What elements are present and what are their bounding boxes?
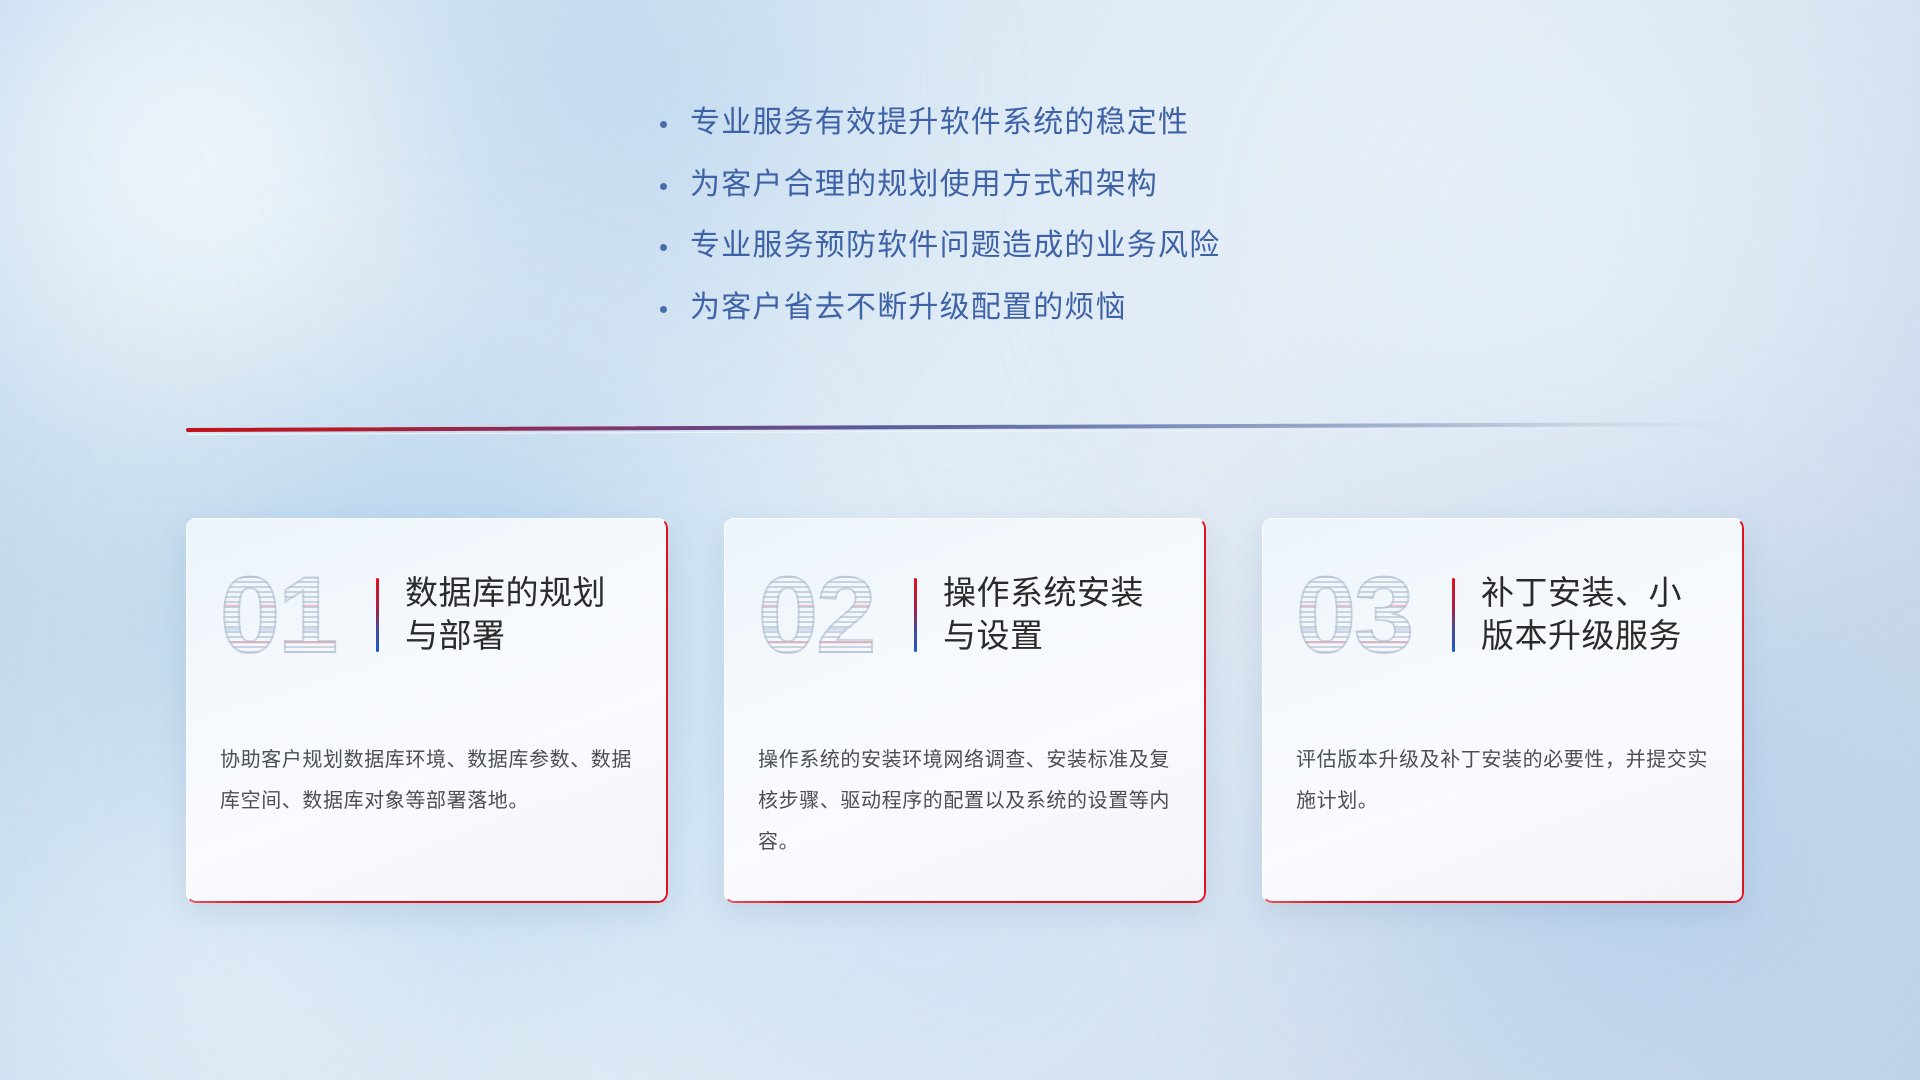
card-header: 0101 数据库的规划与部署 <box>220 556 634 674</box>
list-item: 专业服务预防软件问题造成的业务风险 <box>660 227 1440 265</box>
benefits-bullet-list: 专业服务有效提升软件系统的稳定性 为客户合理的规划使用方式和架构 专业服务预防软… <box>660 104 1440 350</box>
card-title: 补丁安装、小版本升级服务 <box>1481 572 1710 658</box>
card-number-tint: 02 <box>758 561 908 669</box>
card-accent-bar <box>376 578 379 652</box>
bullet-dot-icon <box>660 183 690 190</box>
slide-canvas: 专业服务有效提升软件系统的稳定性 为客户合理的规划使用方式和架构 专业服务预防软… <box>0 0 1920 1080</box>
card-body-text: 协助客户规划数据库环境、数据库参数、数据库空间、数据库对象等部署落地。 <box>220 740 634 822</box>
card-header: 0202 操作系统安装与设置 <box>758 556 1172 674</box>
bullet-dot-icon <box>660 306 690 313</box>
card-accent-bar <box>1452 578 1455 652</box>
service-card-03[interactable]: 0303 补丁安装、小版本升级服务 评估版本升级及补丁安装的必要性，并提交实施计… <box>1262 518 1744 903</box>
bullet-label: 为客户省去不断升级配置的烦恼 <box>690 289 1127 327</box>
gradient-divider <box>186 424 1746 440</box>
card-title: 操作系统安装与设置 <box>943 572 1172 658</box>
service-card-01[interactable]: 0101 数据库的规划与部署 协助客户规划数据库环境、数据库参数、数据库空间、数… <box>186 518 668 903</box>
list-item: 为客户合理的规划使用方式和架构 <box>660 166 1440 204</box>
list-item: 为客户省去不断升级配置的烦恼 <box>660 289 1440 327</box>
bullet-label: 为客户合理的规划使用方式和架构 <box>690 166 1158 204</box>
service-card-02[interactable]: 0202 操作系统安装与设置 操作系统的安装环境网络调查、安装标准及复核步骤、驱… <box>724 518 1206 903</box>
card-accent-bar <box>914 578 917 652</box>
card-body-text: 评估版本升级及补丁安装的必要性，并提交实施计划。 <box>1296 740 1710 822</box>
card-title: 数据库的规划与部署 <box>405 572 634 658</box>
bullet-label: 专业服务预防软件问题造成的业务风险 <box>690 227 1220 265</box>
card-number-tint: 01 <box>220 561 370 669</box>
card-number-ghost: 0101 <box>220 561 370 669</box>
bullet-label: 专业服务有效提升软件系统的稳定性 <box>690 104 1189 142</box>
card-number-ghost: 0303 <box>1296 561 1446 669</box>
bullet-dot-icon <box>660 121 690 128</box>
bullet-dot-icon <box>660 244 690 251</box>
card-number-ghost: 0202 <box>758 561 908 669</box>
card-body-text: 操作系统的安装环境网络调查、安装标准及复核步骤、驱动程序的配置以及系统的设置等内… <box>758 740 1172 863</box>
list-item: 专业服务有效提升软件系统的稳定性 <box>660 104 1440 142</box>
card-header: 0303 补丁安装、小版本升级服务 <box>1296 556 1710 674</box>
service-cards: 0101 数据库的规划与部署 协助客户规划数据库环境、数据库参数、数据库空间、数… <box>186 518 1746 903</box>
card-number-tint: 03 <box>1296 561 1446 669</box>
